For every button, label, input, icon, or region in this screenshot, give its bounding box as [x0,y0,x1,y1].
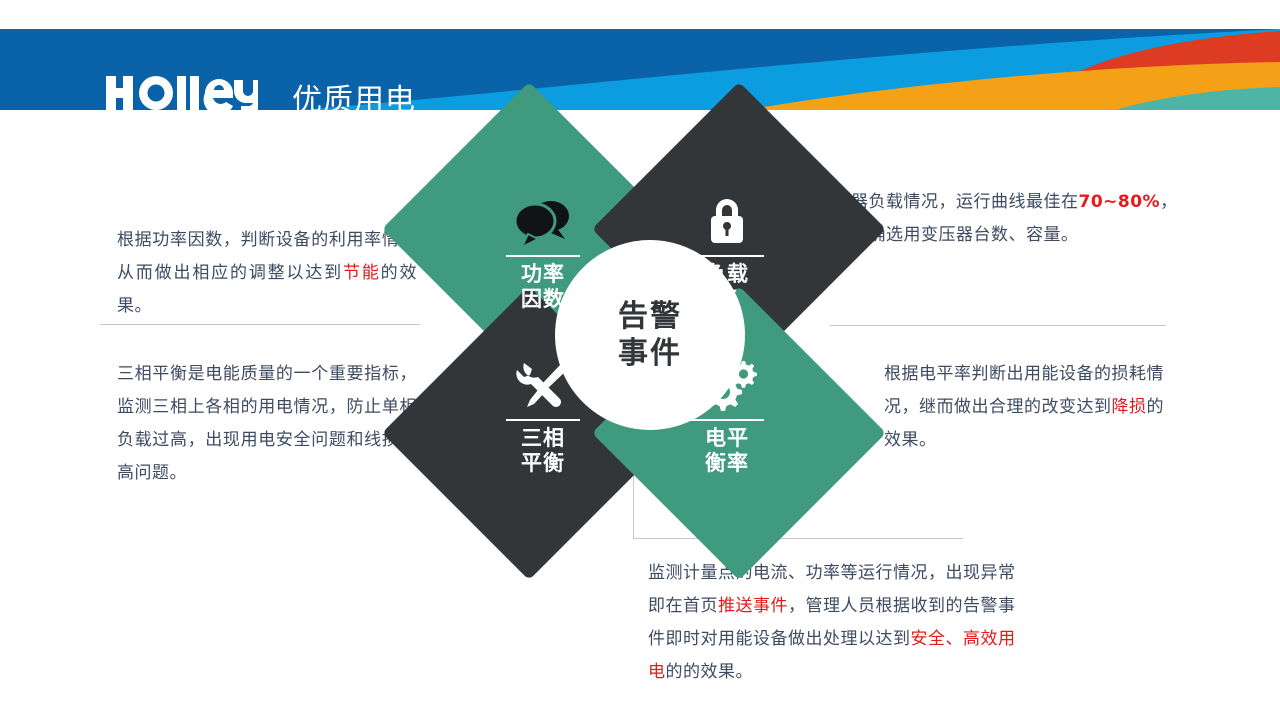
callout-alarm-event-highlight1: 推送事件 [718,596,788,616]
callout-alarm-event-part3: 的的效果。 [666,662,754,682]
callout-voltage-balance-highlight: 降损 [1112,397,1147,417]
page-title: 优质用电 [292,84,416,110]
center-hub-label-l1: 告警 [618,298,682,335]
slide-canvas: TECH 华立科技 优质用电 根据功率因数，判断设备的利用率情况从而做出相应的调… [0,0,1280,720]
holley-logo: TECH 华立科技 [106,76,256,110]
callout-alarm-event: 监测计量点的电流、功率等运行情况，出现异常即在首页推送事件，管理人员根据收到的告… [648,557,1023,689]
center-hub: 告警 事件 [555,240,745,430]
center-hub-label: 告警 事件 [618,298,682,372]
callout-power-factor-highlight: 节能 [343,263,381,283]
divider-right [830,325,1166,326]
slide-header: TECH 华立科技 优质用电 [0,29,1280,110]
center-hub-label-l2: 事件 [618,335,682,372]
callout-load-rate-highlight: 70~80% [1079,192,1161,212]
diamond-cluster: 功率 因数 负载 率 [425,125,855,540]
callout-three-phase-text: 三相平衡是电能质量的一个重要指标，监测三相上各相的用电情况，防止单相负载过高，出… [117,364,417,483]
callout-voltage-balance: 根据电平率判断出用能设备的损耗情况，继而做出合理的改变达到降损的效果。 [884,358,1176,457]
callout-three-phase: 三相平衡是电能质量的一个重要指标，监测三相上各相的用电情况，防止单相负载过高，出… [117,358,417,490]
divider-left [100,324,420,325]
callout-power-factor: 根据功率因数，判断设备的利用率情况从而做出相应的调整以达到节能的效果。 [117,224,417,323]
holley-logo-mark: TECH 华立科技 [106,76,258,110]
